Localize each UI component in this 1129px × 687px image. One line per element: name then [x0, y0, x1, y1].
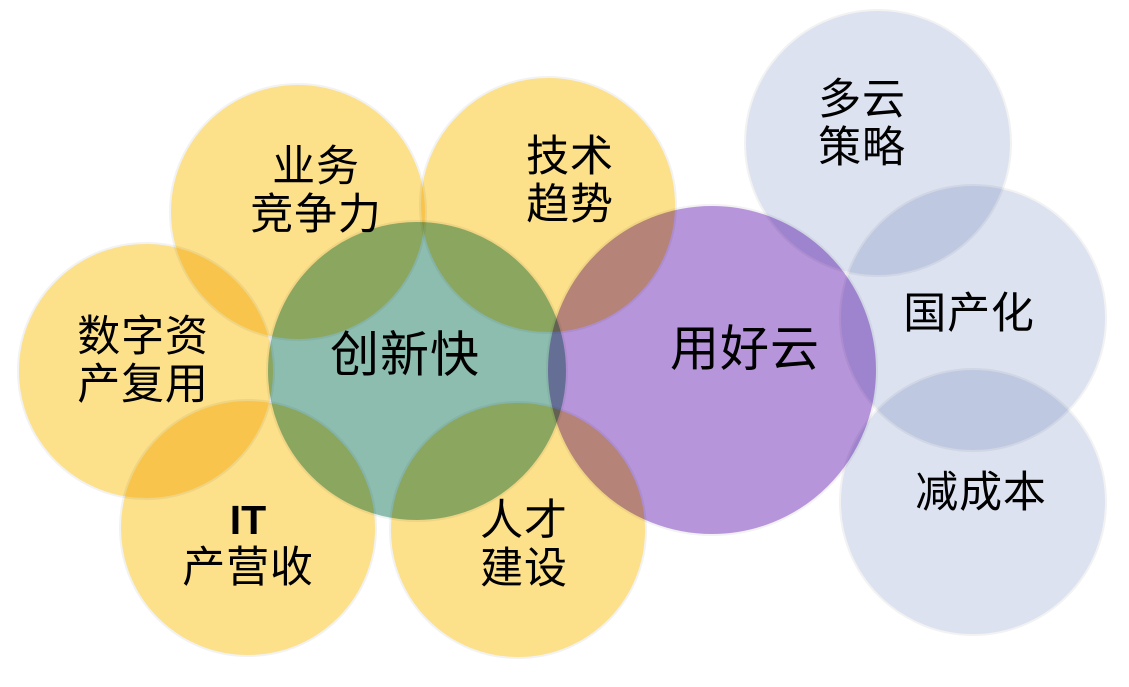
circle-layer [18, 10, 1106, 658]
venn-diagram-canvas: 业务竞争力技术趋势多云策略数字资产复用创新快用好云国产化IT产营收人才建设减成本 [0, 0, 1129, 687]
venn-circle-innovate-fast [267, 221, 567, 521]
venn-circle-cost-reduction [840, 369, 1106, 635]
venn-circles-svg [0, 0, 1129, 687]
